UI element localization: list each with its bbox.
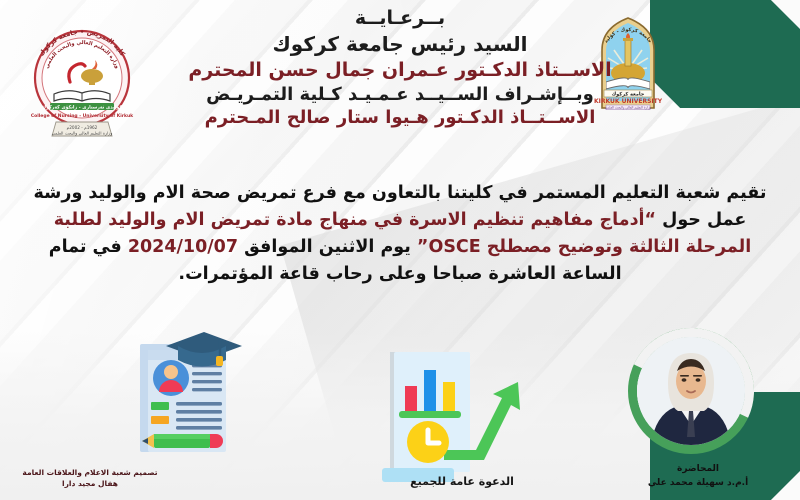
announcement-body: تقيم شعبة التعليم المستمر في كليتنا بالت…	[24, 180, 776, 289]
lecturer-portrait	[628, 328, 754, 454]
chart-baseline	[399, 411, 461, 418]
event-date: 2024/10/07	[128, 237, 238, 257]
invitation-text: الدعوة عامة للجميع	[410, 475, 514, 488]
lecturer-role-label: المحاضرة	[618, 463, 778, 477]
body-segment-organizer: تقيم شعبة التعليم المستمر في كليتنا بالت…	[88, 183, 766, 203]
poster-header: بــرعـايــة السيد رئيس جامعة كركوك الاسـ…	[0, 8, 800, 128]
design-credit: تصميم شعبة الاعلام والعلاقات العامة هفال…	[10, 467, 170, 490]
bar-yellow	[443, 382, 455, 412]
header-line-university-president: السيد رئيس جامعة كركوك	[0, 33, 800, 55]
lecturer-name: أ.م.د سهيلة محمد علي	[618, 477, 778, 491]
header-line-president-name: الاســتاذ الدكـتور عـمران جمال حسن المحت…	[0, 60, 800, 81]
event-announcement-poster: كلية التمريض • جامعة كركوك وزارة التعليم…	[0, 0, 800, 500]
design-credit-department: تصميم شعبة الاعلام والعلاقات العامة	[10, 467, 170, 479]
portrait-photo	[637, 337, 745, 445]
svg-text:وزارة التعليم العالي والبحث ال: وزارة التعليم العالي والبحث العلمي	[52, 131, 113, 136]
bar-blue	[424, 370, 436, 412]
pencil-icon	[142, 434, 223, 448]
body-segment-day: يوم الاثنين الموافق	[238, 237, 417, 257]
design-credit-author: هفال مجيد دارا	[10, 478, 170, 490]
header-line-dean-supervision: وبــإشـراف الســيــد عـمـيـد كـلية التمـ…	[0, 85, 800, 105]
header-line-patronage: بــرعـايــة	[0, 8, 800, 29]
lecturer-caption: المحاضرة أ.م.د سهيلة محمد علي	[618, 463, 778, 490]
header-line-dean-name: الاســتــاذ الدكـتور هـيوا ستار صالح الم…	[0, 108, 800, 128]
chart-growth-illustration	[372, 342, 542, 482]
cv-resume-illustration	[128, 326, 248, 476]
bar-red	[405, 386, 417, 412]
